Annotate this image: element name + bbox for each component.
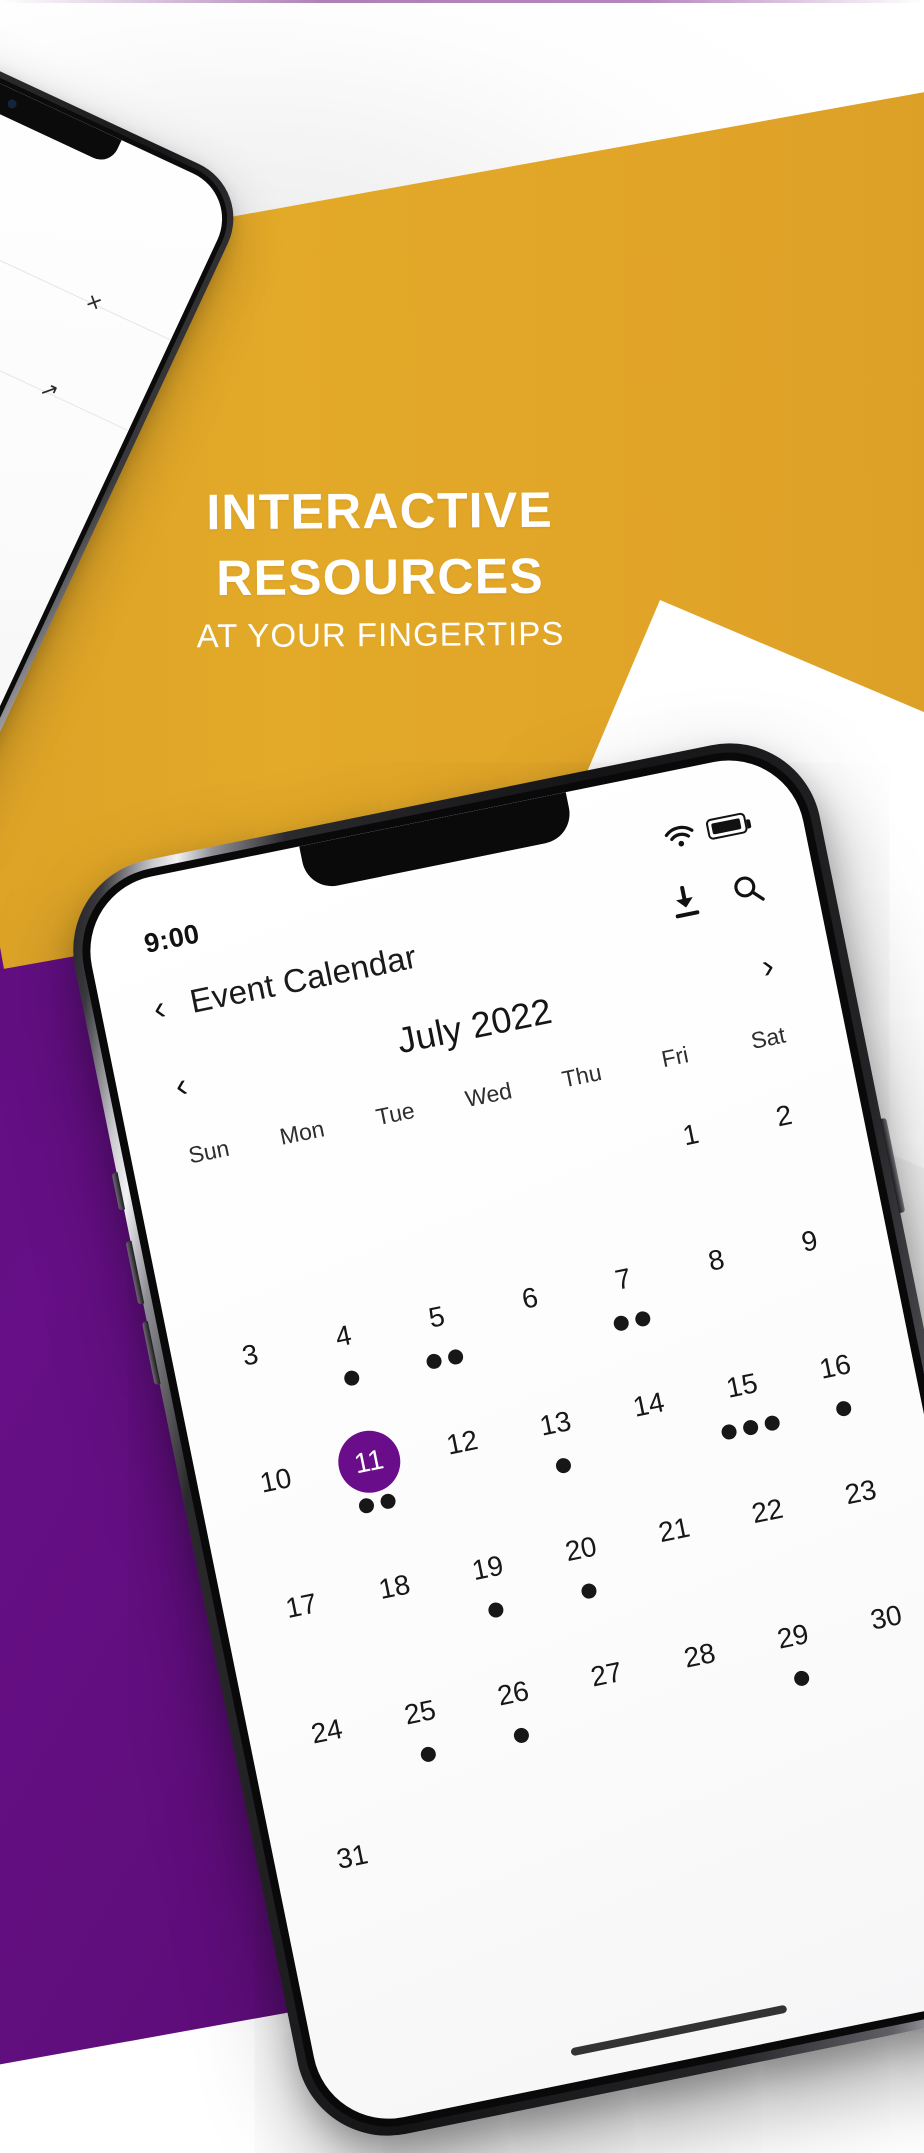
event-dots [418,1226,421,1241]
day-number: 19 [451,1532,524,1605]
day-number: 29 [756,1600,829,1673]
status-icons-group [663,811,749,849]
weekday-label-sun: Sun [160,1129,259,1174]
event-dots [420,1745,438,1763]
day-number: 7 [587,1243,660,1316]
calendar-day-cell[interactable]: 16 [782,1327,896,1448]
event-dots [308,1641,311,1656]
status-time: 9:00 [142,918,203,959]
event-dot [742,1419,760,1437]
event-dot [358,1497,376,1515]
day-number: 14 [612,1368,685,1441]
month-label: July 2022 [394,990,556,1062]
top-hairline [0,0,924,3]
page-title: Event Calendar [187,938,420,1021]
day-number: 13 [519,1387,592,1460]
search-icon[interactable] [730,870,767,907]
event-dots [325,1245,328,1260]
event-dots [613,1709,616,1724]
event-dot [634,1310,652,1328]
prev-month-button[interactable]: ‹ [172,1068,190,1104]
battery-icon [705,812,748,841]
calendar-day-cell[interactable]: 9 [757,1202,871,1323]
event-dots [426,1348,465,1370]
day-number: 10 [239,1444,312,1517]
list-divider [0,258,129,431]
day-number: 23 [824,1456,897,1529]
event-dots [732,1816,735,1831]
event-dots [581,1582,599,1600]
event-dots [707,1690,710,1705]
calendar-day-cell[interactable]: 23 [808,1453,922,1574]
event-dots [283,1515,286,1530]
event-dot [343,1369,361,1387]
day-number: 25 [383,1676,456,1749]
event-dot [447,1348,465,1366]
event-dots [513,1727,531,1745]
event-dots [868,1527,871,1542]
day-number: 26 [477,1657,550,1730]
day-number: 1 [654,1099,727,1172]
event-dots [358,1492,397,1514]
day-number: 4 [307,1300,380,1373]
day-number: 20 [544,1513,617,1586]
day-number: 28 [663,1619,736,1692]
external-link-icon[interactable]: ↗ [36,375,63,405]
event-dot [793,1670,811,1688]
weekday-label-wed: Wed [439,1072,538,1117]
event-dots [681,1565,684,1580]
event-dots [919,1778,922,1793]
event-dots [723,1295,726,1310]
event-dot [720,1423,738,1441]
day-number: 9 [773,1205,846,1278]
app-bar-right [667,870,766,920]
event-dots [893,1652,896,1667]
day-number: 5 [400,1281,473,1354]
weekday-label-fri: Fri [626,1034,725,1079]
event-dots [257,1390,260,1405]
event-dot [420,1745,438,1763]
day-number: 24 [290,1695,363,1768]
calendar-day-cell[interactable]: 2 [731,1076,845,1197]
day-number: 6 [493,1262,566,1335]
day-number: 2 [748,1080,821,1153]
day-number: 30 [850,1581,923,1654]
event-dots [720,1414,781,1440]
event-dots [774,1546,777,1561]
next-month-button[interactable]: › [759,949,777,985]
wifi-icon [663,822,697,850]
event-dots [639,1834,642,1849]
day-number: 18 [358,1551,431,1624]
event-dot [835,1400,853,1418]
event-dot [763,1414,781,1432]
event-dots [555,1457,573,1475]
event-dots [469,1477,472,1492]
event-dots [546,1853,549,1868]
day-number: 22 [731,1475,804,1548]
event-dots [817,1276,820,1291]
download-icon[interactable] [667,883,703,920]
event-dots [612,1310,651,1332]
event-dots [511,1207,514,1222]
event-dots [453,1872,456,1887]
back-button[interactable]: ‹ [150,991,168,1027]
event-dots [698,1169,701,1184]
day-number: 17 [265,1570,338,1643]
day-number: 31 [316,1821,389,1894]
day-number: 3 [214,1319,287,1392]
event-dot [379,1492,397,1510]
event-dots [791,1150,794,1165]
event-dot [555,1457,573,1475]
day-number: 16 [799,1330,872,1403]
weekday-label-mon: Mon [253,1110,352,1155]
close-icon[interactable]: × [81,287,106,319]
day-number: 11 [332,1425,405,1498]
event-dots [402,1622,405,1637]
day-number: 15 [705,1349,778,1422]
event-dot [581,1582,599,1600]
event-dots [656,1439,659,1454]
day-number: 21 [638,1494,711,1567]
weekday-label-thu: Thu [533,1053,632,1098]
event-dot [612,1314,630,1332]
event-dots [825,1797,828,1812]
event-dots [537,1333,540,1348]
day-number: 12 [426,1406,499,1479]
event-dot [513,1727,531,1745]
event-dots [793,1670,811,1688]
event-dots [359,1891,362,1906]
day-number: 27 [570,1638,643,1711]
event-dots [605,1188,608,1203]
event-dot [426,1352,444,1370]
app-bar-left: ‹ Event Calendar [150,938,420,1029]
weekday-label-tue: Tue [346,1091,445,1136]
day-number: 8 [680,1224,753,1297]
weekday-label-sat: Sat [719,1015,818,1060]
event-dot [487,1601,505,1619]
event-dots [487,1601,505,1619]
event-dots [232,1264,235,1279]
event-dots [343,1369,361,1387]
event-dots [334,1766,337,1781]
event-dots [835,1400,853,1418]
